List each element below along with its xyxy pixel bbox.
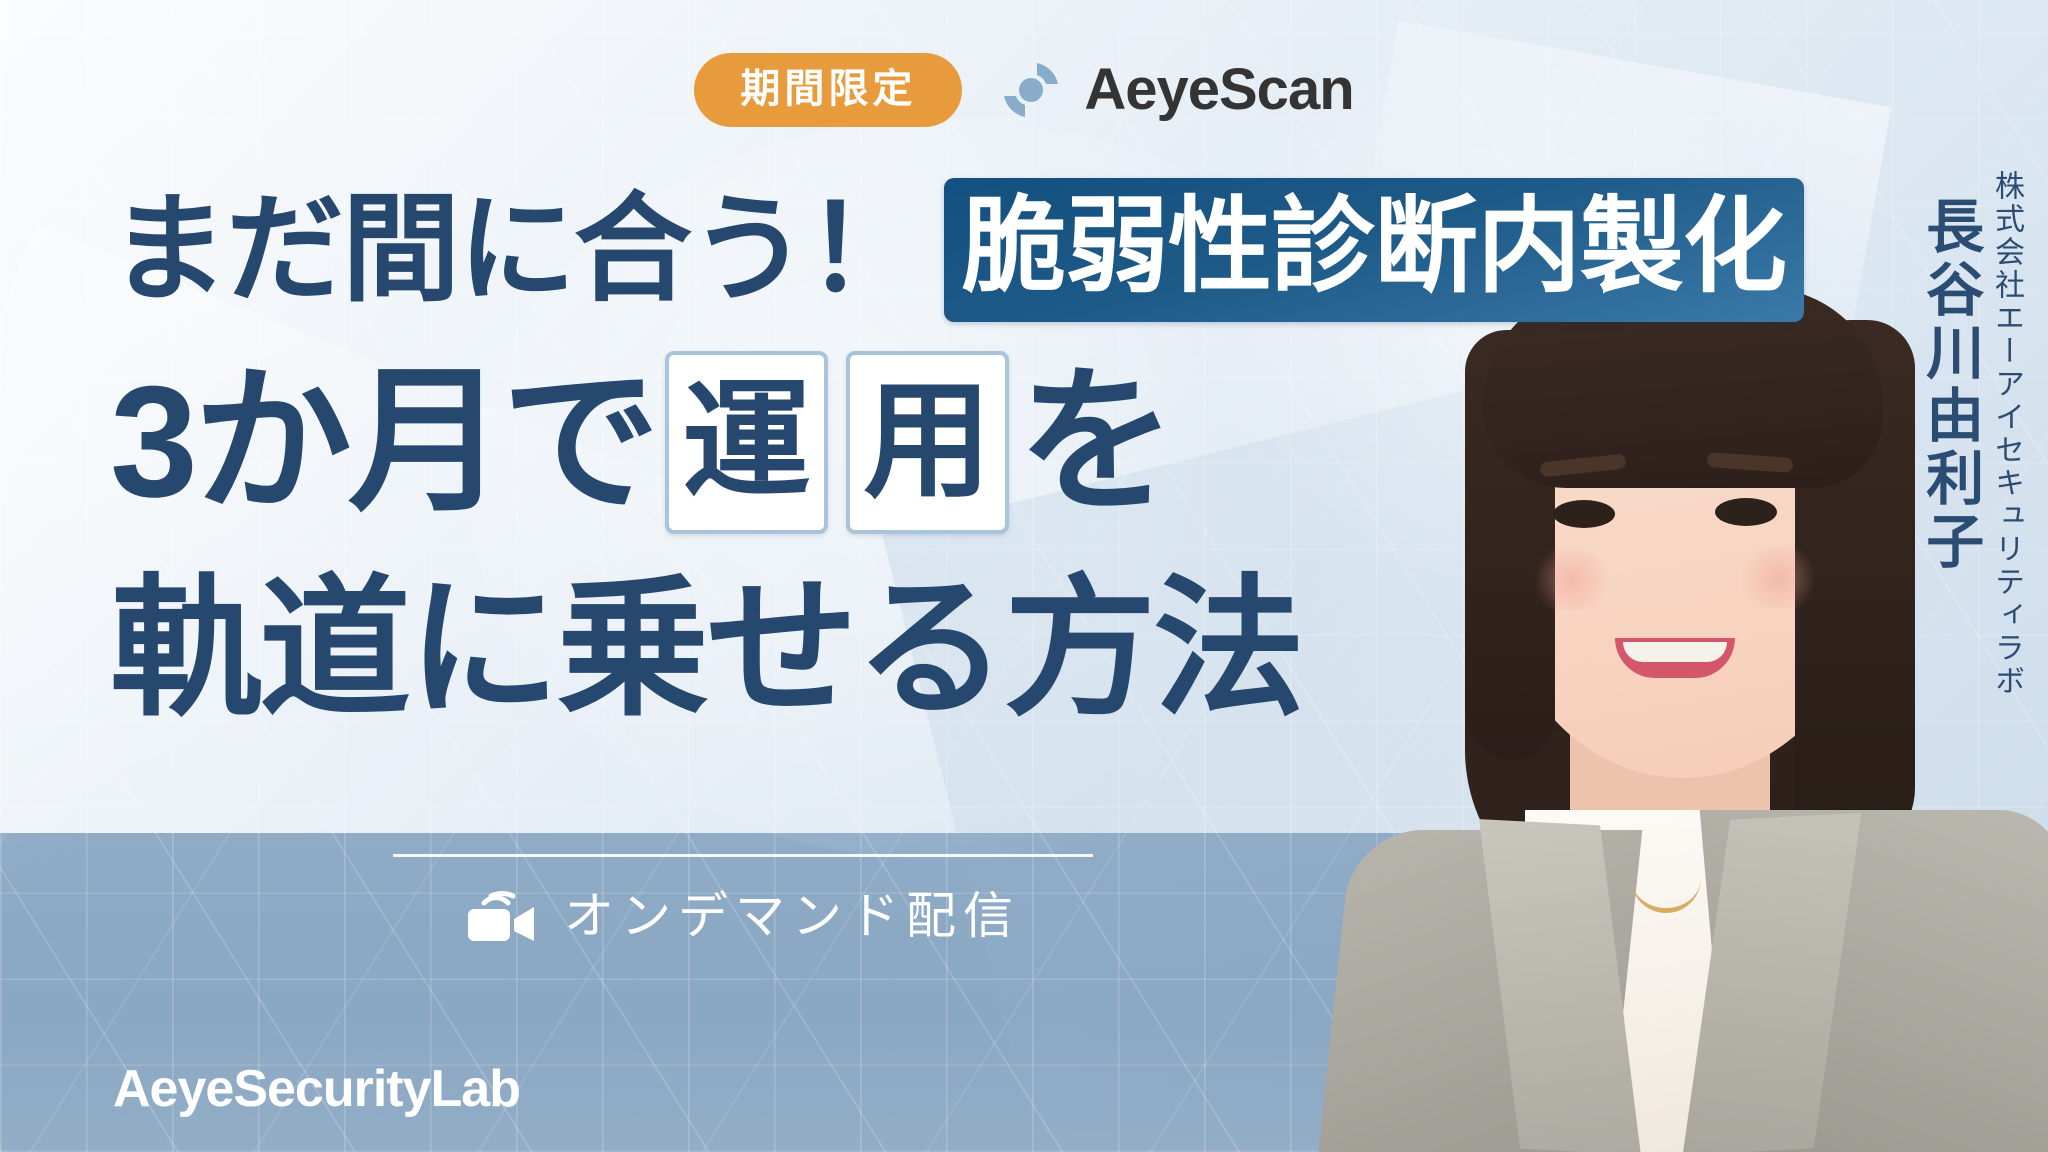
speaker-name: 長谷川由利子 xyxy=(1919,196,1980,574)
webinar-banner: 期間限定 AeyeScan まだ間に合う！ 脆弱性診断内製化 3か月で 運 用 … xyxy=(0,0,2048,1152)
headline-block: まだ間に合う！ 脆弱性診断内製化 3か月で 運 用 を 軌道に乗せる方法 xyxy=(110,180,1670,744)
speaker-company: 株式会社エーアイセキュリティラボ xyxy=(1990,170,2022,698)
aeyescan-logo-text: AeyeScan xyxy=(1084,61,1353,119)
headline-line-2: 3か月で 運 用 を xyxy=(110,342,1670,542)
headline-char-box-2: 用 xyxy=(846,351,1009,534)
video-camera-broadcast-icon xyxy=(466,887,538,945)
portrait-cheek-right xyxy=(1733,548,1823,608)
headline-line1-plain: まだ間に合う！ xyxy=(110,191,922,309)
ondemand-row: オンデマンド配信 xyxy=(393,887,1093,945)
ondemand-block: オンデマンド配信 xyxy=(393,854,1093,945)
headline-line-3: 軌道に乗せる方法 xyxy=(110,554,1670,744)
aeyescan-logo: AeyeScan xyxy=(996,55,1353,125)
banner-header: 期間限定 AeyeScan xyxy=(0,44,2048,136)
aeyescan-arc-icon xyxy=(996,55,1066,125)
headline-line3-text: 軌道に乗せる方法 xyxy=(110,573,1302,725)
limited-time-badge: 期間限定 xyxy=(694,53,962,127)
ondemand-divider xyxy=(393,854,1093,857)
portrait-eye-right xyxy=(1715,498,1777,526)
headline-line2-suffix: を xyxy=(1018,363,1172,521)
speaker-info: 長谷川由利子 株式会社エーアイセキュリティラボ xyxy=(1919,170,2022,698)
headline-line1-highlight-box: 脆弱性診断内製化 xyxy=(944,178,1804,322)
headline-line2-prefix: 3か月で xyxy=(110,363,656,521)
footer-brand-logo: AeyeSecurityLab xyxy=(113,1063,520,1115)
headline-line-1: まだ間に合う！ 脆弱性診断内製化 xyxy=(110,180,1670,320)
headline-char-box-1: 運 xyxy=(665,351,828,534)
ondemand-label: オンデマンド配信 xyxy=(564,891,1020,941)
